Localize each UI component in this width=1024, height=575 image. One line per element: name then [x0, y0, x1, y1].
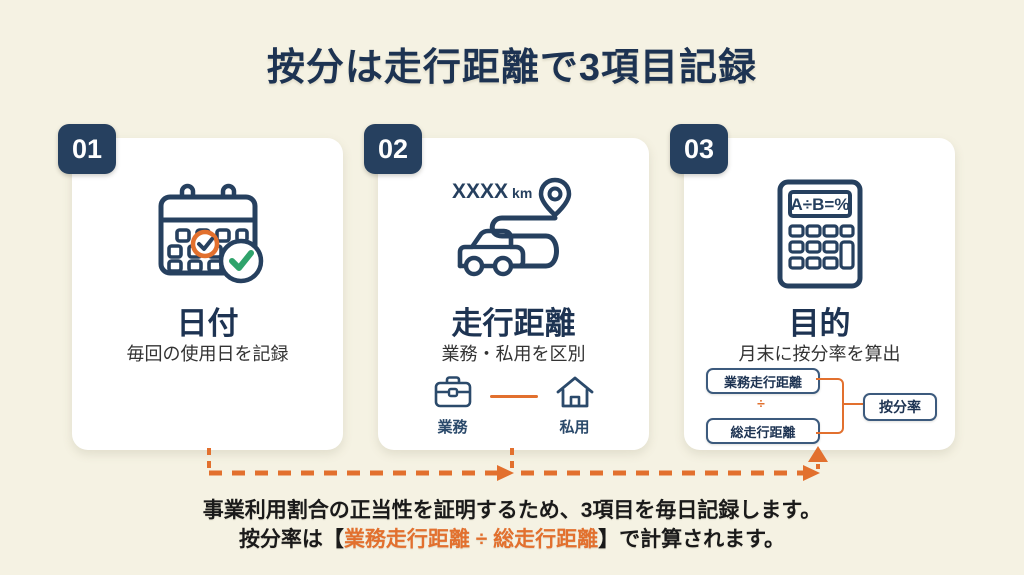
usage-business-label: 業務 [437, 416, 467, 437]
infographic-canvas: 按分は走行距離で3項目記録 01 [0, 0, 1024, 575]
calculator-display: A÷B=% [790, 195, 849, 214]
calendar-check-icon [72, 172, 343, 296]
footer-line-1: 事業利用割合の正当性を証明するため、3項目を毎日記録します。 [0, 496, 1024, 525]
step-badge-02: 02 [364, 124, 422, 174]
page-title: 按分は走行距離で3項目記録 [0, 36, 1024, 91]
footer-line2-pre: 按分率は【 [239, 528, 344, 551]
card-title-02: 走行距離 [378, 298, 649, 343]
calculator-icon: A÷B=% [684, 172, 955, 296]
formula-operator: ÷ [706, 394, 816, 412]
proration-formula: 業務走行距離 ÷ 総走行距離 按分率 [700, 368, 939, 440]
flow-connector [0, 440, 1024, 490]
usage-connector [490, 395, 538, 398]
card-subtitle-02: 業務・私用を区別 [378, 340, 649, 366]
formula-numerator: 業務走行距離 [706, 368, 820, 394]
usage-private-label: 私用 [559, 416, 589, 437]
formula-stem [842, 403, 863, 405]
distance-label: XXXXkm [452, 180, 532, 203]
formula-result: 按分率 [863, 393, 937, 421]
step-badge-01: 01 [58, 124, 116, 174]
usage-type-row: 業務 私用 [378, 375, 649, 437]
footer-highlight-numerator: 業務走行距離 [344, 528, 470, 551]
house-icon [555, 375, 595, 414]
card-subtitle-03: 月末に按分率を算出 [684, 340, 955, 366]
usage-private: 私用 [538, 375, 612, 437]
briefcase-icon [433, 375, 473, 414]
card-subtitle-01: 毎回の使用日を記録 [72, 340, 343, 366]
footer-line2-post: 】で計算されます。 [598, 528, 785, 551]
footer-highlight-denominator: 総走行距離 [493, 528, 598, 551]
footer-note: 事業利用割合の正当性を証明するため、3項目を毎日記録します。 按分率は【業務走行… [0, 496, 1024, 554]
formula-bracket [816, 378, 844, 434]
footer-operator: ÷ [470, 528, 493, 551]
card-title-03: 目的 [684, 298, 955, 343]
card-title-01: 日付 [72, 298, 343, 343]
step-card-01: 01 [72, 138, 343, 450]
step-card-03: 03 A÷B=% [684, 138, 955, 450]
step-badge-03: 03 [670, 124, 728, 174]
step-card-02: 02 XXXXkm 走行距離 業務・私用を [378, 138, 649, 450]
car-route-icon: XXXXkm [378, 172, 649, 296]
usage-business: 業務 [416, 375, 490, 437]
footer-line-2: 按分率は【業務走行距離 ÷ 総走行距離】で計算されます。 [0, 525, 1024, 554]
